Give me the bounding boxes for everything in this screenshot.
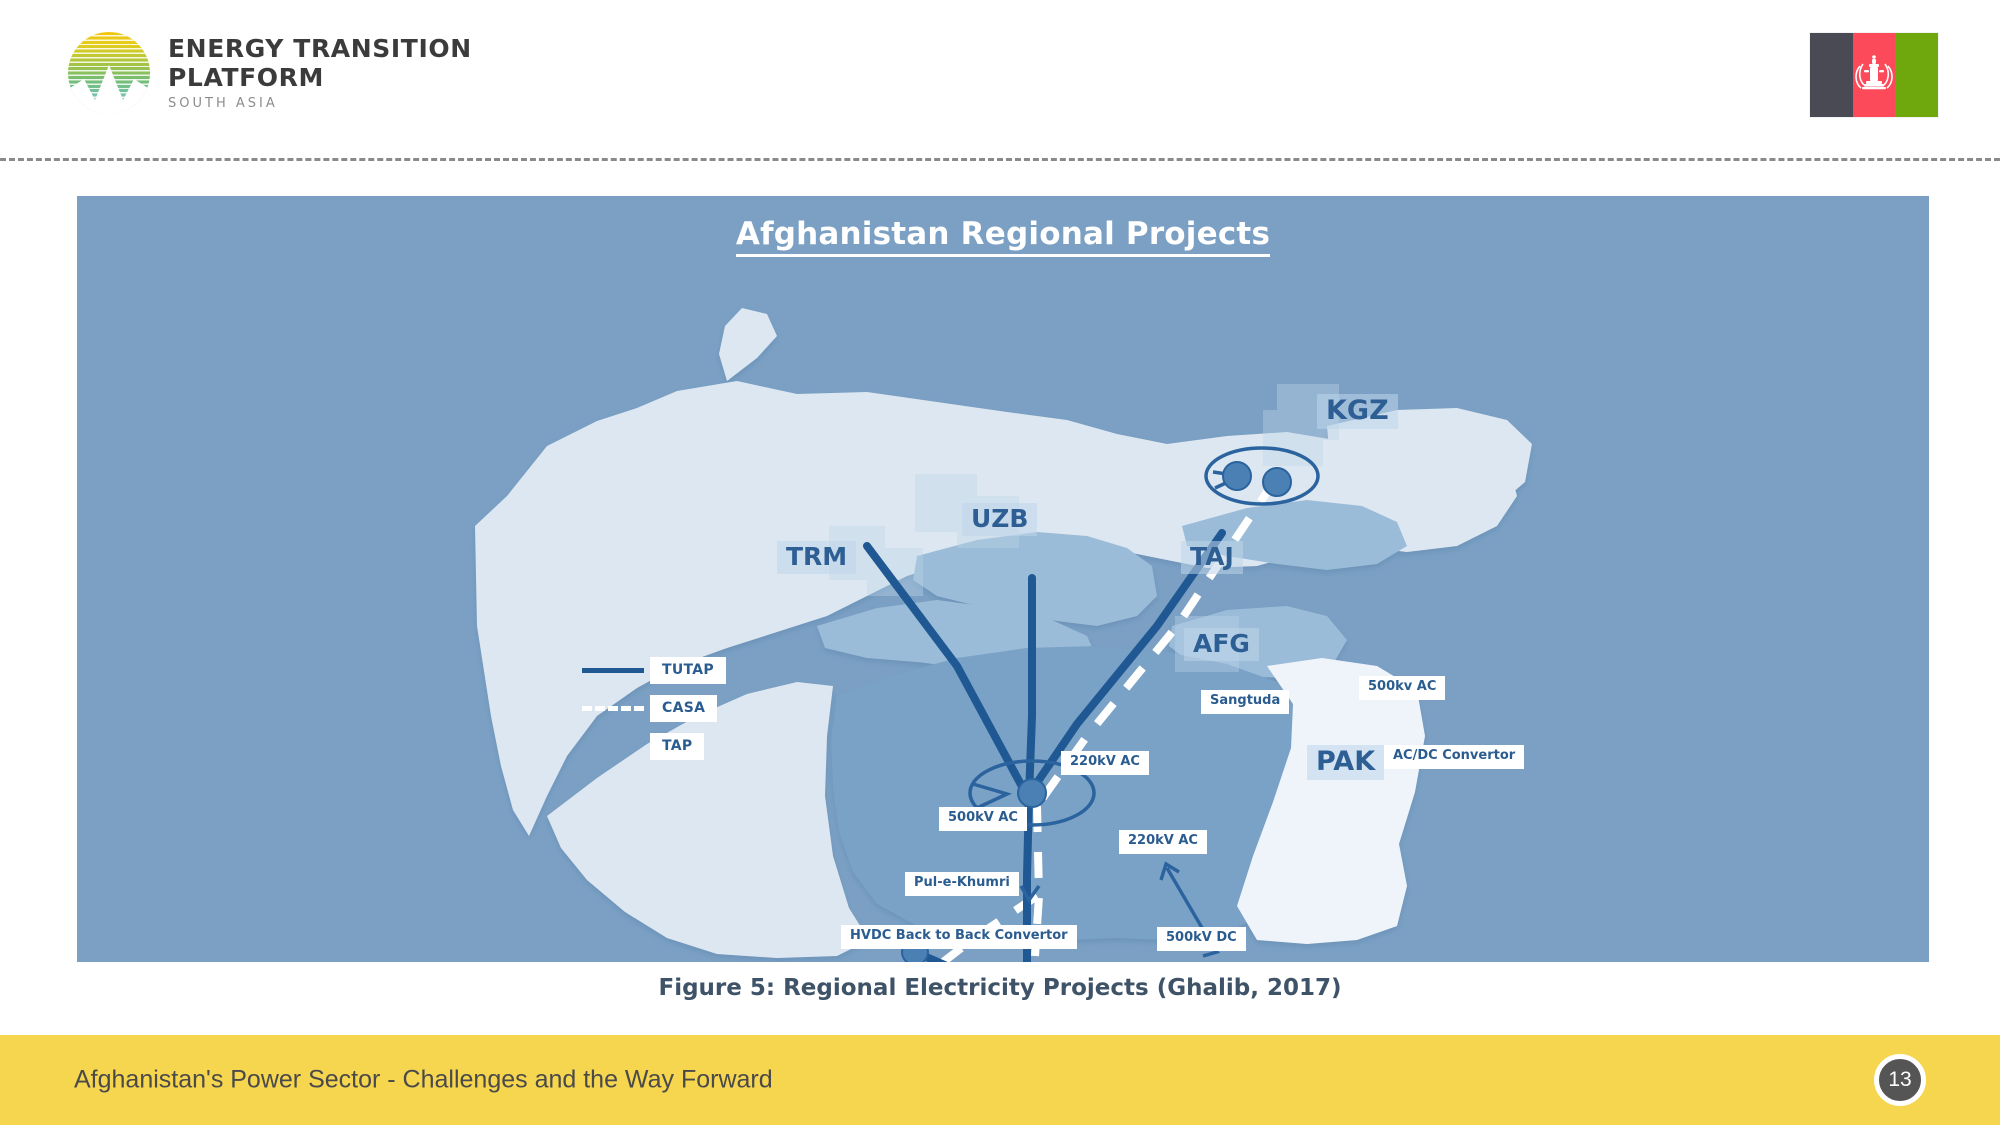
country-label-afg: AFG: [1184, 628, 1259, 661]
landmass-north-inlet: [719, 308, 777, 381]
map-label-sangtuda: Sangtuda: [1201, 690, 1289, 714]
map-graphic: [77, 196, 1929, 962]
node-acdc: [1263, 468, 1291, 496]
map-label-pul-e-khumri: Pul-e-Khumri: [905, 872, 1019, 896]
legend-label-tap: TAP: [650, 733, 704, 760]
flag-band-green: [1895, 33, 1938, 117]
legend-label-casa: CASA: [650, 695, 717, 722]
legend-item-tutap: TUTAP: [582, 651, 726, 689]
slide-header: ENERGY TRANSITION PLATFORM SOUTH ASIA: [0, 0, 2000, 160]
flag-band-red: [1853, 33, 1896, 117]
page-number-badge: 13: [1874, 1054, 1926, 1106]
brand-line-2: PLATFORM: [168, 65, 472, 90]
country-label-trm: TRM: [777, 541, 856, 574]
brand-line-3: SOUTH ASIA: [168, 97, 472, 110]
footer-title: Afghanistan's Power Sector - Challenges …: [74, 1066, 773, 1095]
map-title: Afghanistan Regional Projects: [77, 216, 1929, 252]
map-label-kv500-dc: 500kV DC: [1157, 927, 1246, 951]
country-label-uzb: UZB: [962, 503, 1037, 536]
flag-band-black: [1810, 33, 1853, 117]
country-label-kgz: KGZ: [1317, 394, 1398, 429]
page-number: 13: [1888, 1068, 1911, 1092]
afghanistan-emblem-icon: [1851, 50, 1897, 100]
slide-footer: Afghanistan's Power Sector - Challenges …: [0, 1035, 2000, 1125]
node-pul-e-khumri: [1018, 779, 1046, 807]
legend-item-casa: CASA: [582, 689, 726, 727]
map-label-kv500-ac-kgz: 500kv AC: [1359, 676, 1445, 700]
legend-label-tutap: TUTAP: [650, 657, 726, 684]
brand-line-1: ENERGY TRANSITION: [168, 36, 472, 61]
country-label-pak: PAK: [1307, 745, 1384, 780]
map-label-hvdc-b2b-left: HVDC Back to Back Convertor: [841, 925, 1077, 949]
legend-swatch-tutap: [582, 668, 644, 673]
slide: ENERGY TRANSITION PLATFORM SOUTH ASIA: [0, 0, 2000, 1125]
country-label-taj: TAJ: [1181, 541, 1243, 574]
map-label-kv220-ac-uzb: 220kV AC: [1061, 751, 1149, 775]
node-sangtuda: [1223, 462, 1251, 490]
brand-logo: ENERGY TRANSITION PLATFORM SOUTH ASIA: [68, 32, 472, 114]
legend-item-tap: TAP: [582, 727, 726, 765]
afghanistan-flag: [1810, 33, 1938, 117]
legend-swatch-casa: [582, 706, 644, 711]
map-legend: TUTAP CASA TAP: [582, 651, 726, 765]
figure-container: Afghanistan Regional Projects KGZUZBTRMT…: [77, 196, 1929, 962]
figure-caption: Figure 5: Regional Electricity Projects …: [0, 975, 2000, 1001]
regional-projects-map: Afghanistan Regional Projects KGZUZBTRMT…: [77, 196, 1929, 962]
map-label-kv220-ac-taj: 220kV AC: [1119, 830, 1207, 854]
sun-wave-logo-icon: [68, 32, 150, 114]
map-label-acdc-convertor: AC/DC Convertor: [1384, 745, 1524, 769]
header-divider: [0, 158, 2000, 161]
map-label-kv500-ac-trm: 500kV AC: [939, 807, 1027, 831]
brand-wordmark: ENERGY TRANSITION PLATFORM SOUTH ASIA: [168, 36, 472, 110]
logo-w-glyph: [68, 32, 150, 114]
